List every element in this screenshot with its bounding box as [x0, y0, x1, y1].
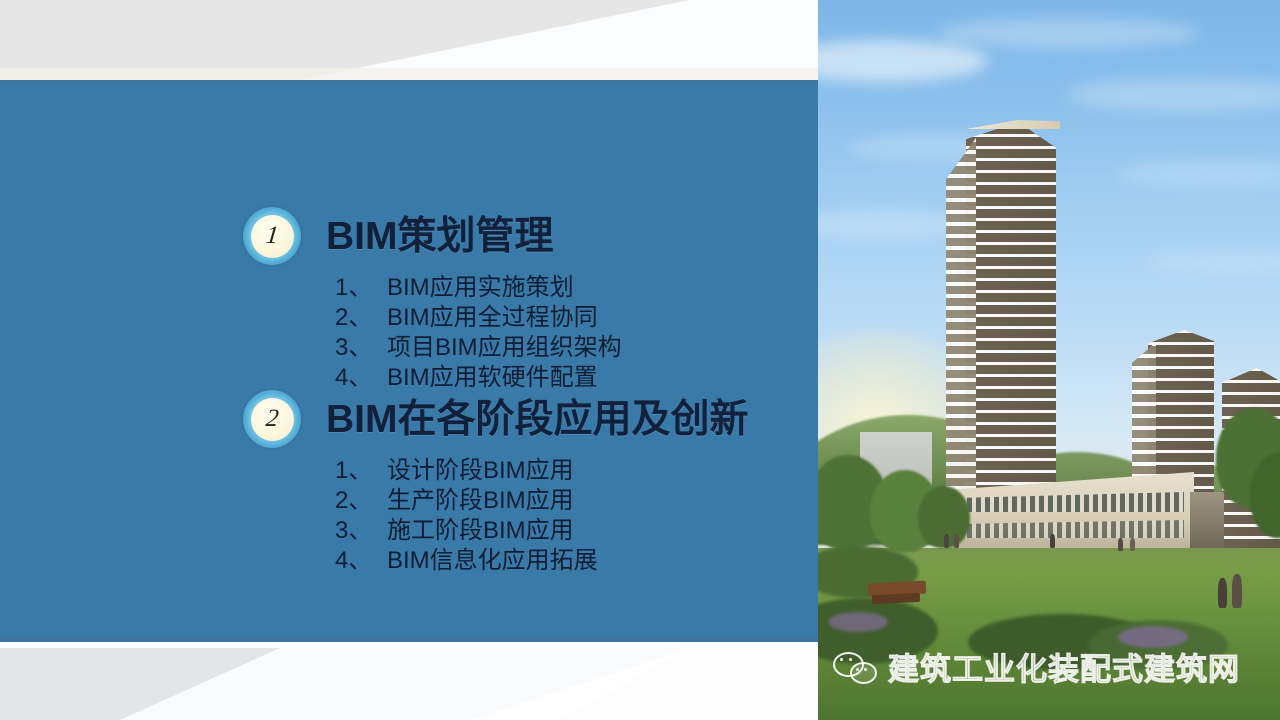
list-item: 4、 BIM信息化应用拓展	[335, 546, 749, 576]
list-item-text: 施工阶段BIM应用	[387, 516, 574, 546]
list-item: 1、 BIM应用实施策划	[335, 273, 622, 303]
flower-patch	[828, 612, 888, 632]
watermark: 建筑工业化装配式建筑网	[833, 643, 1240, 695]
list-item-number: 3、	[335, 333, 387, 363]
list-item-number: 1、	[335, 456, 387, 486]
number-badge-icon-2: 2	[243, 390, 301, 448]
person	[1118, 538, 1123, 551]
presentation-slide: 1 BIM策划管理 1、 BIM应用实施策划 2、 BIM应用全过程协同 3、 …	[0, 0, 1280, 720]
list-item-text: 项目BIM应用组织架构	[387, 333, 622, 363]
list-item-text: BIM信息化应用拓展	[387, 546, 598, 576]
person	[1050, 534, 1055, 548]
list-item-text: 设计阶段BIM应用	[387, 456, 574, 486]
list-item: 3、 施工阶段BIM应用	[335, 516, 749, 546]
list-item: 3、 项目BIM应用组织架构	[335, 333, 622, 363]
section-2-heading: 2 BIM在各阶段应用及创新	[243, 388, 749, 450]
number-badge-icon-1: 1	[243, 207, 301, 265]
list-item-text: BIM应用全过程协同	[387, 303, 598, 333]
building-photo	[818, 0, 1280, 720]
list-item-text: 生产阶段BIM应用	[387, 486, 574, 516]
list-item: 2、 生产阶段BIM应用	[335, 486, 749, 516]
outline-section-2: 2 BIM在各阶段应用及创新 1、 设计阶段BIM应用 2、 生产阶段BIM应用…	[243, 388, 749, 576]
badge-number-2: 2	[264, 406, 279, 431]
tower-roof-cap	[964, 120, 1060, 129]
list-item-number: 2、	[335, 303, 387, 333]
person	[1232, 574, 1242, 608]
wechat-icon	[833, 651, 879, 687]
list-item-text: BIM应用实施策划	[387, 273, 574, 303]
watermark-text: 建筑工业化装配式建筑网	[888, 654, 1240, 685]
list-item-number: 3、	[335, 516, 387, 546]
section-1-heading: 1 BIM策划管理	[243, 205, 622, 267]
list-item-number: 1、	[335, 273, 387, 303]
section-1-title: BIM策划管理	[326, 217, 554, 256]
list-item-number: 4、	[335, 546, 387, 576]
badge-inner-disc: 1	[251, 215, 294, 258]
person	[1130, 538, 1135, 551]
section-2-item-list: 1、 设计阶段BIM应用 2、 生产阶段BIM应用 3、 施工阶段BIM应用 4…	[335, 456, 749, 576]
person	[1218, 578, 1227, 608]
list-item: 2、 BIM应用全过程协同	[335, 303, 622, 333]
podium-side-wall	[1190, 492, 1224, 550]
person	[954, 534, 959, 548]
badge-number-1: 1	[264, 223, 279, 248]
content-panel: 1 BIM策划管理 1、 BIM应用实施策划 2、 BIM应用全过程协同 3、 …	[0, 80, 818, 642]
section-2-title: BIM在各阶段应用及创新	[326, 400, 749, 439]
list-item: 1、 设计阶段BIM应用	[335, 456, 749, 486]
badge-inner-disc: 2	[251, 398, 294, 441]
person	[944, 534, 949, 548]
section-1-item-list: 1、 BIM应用实施策划 2、 BIM应用全过程协同 3、 项目BIM应用组织架…	[335, 273, 622, 393]
list-item-number: 2、	[335, 486, 387, 516]
outline-section-1: 1 BIM策划管理 1、 BIM应用实施策划 2、 BIM应用全过程协同 3、 …	[243, 205, 622, 393]
